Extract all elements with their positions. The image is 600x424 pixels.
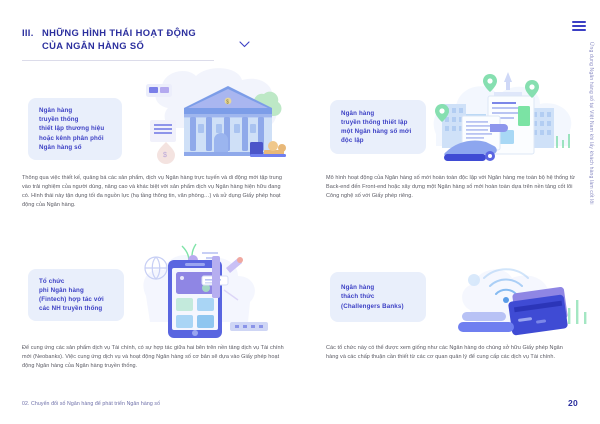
footer-chapter-label: 02. Chuyển đổi số Ngân hàng để phát triể… <box>22 401 160 407</box>
label-card-2-line: Ngân hàng <box>341 109 415 118</box>
credit-card-wifi-illustration <box>440 250 590 342</box>
page-canvas: III. NHỮNG HÌNH THÁI HOẠT ĐỘNG CỦA NGÂN … <box>0 0 600 424</box>
label-card-1-line: thiết lập thương hiệu <box>39 124 111 133</box>
label-card-4-line: Ngân hàng <box>341 283 415 292</box>
section-1-paragraph: Thông qua việc thiết kế, quảng bá các sả… <box>22 174 288 210</box>
label-card-4: Ngân hàng thách thức (Challengers Banks) <box>330 272 426 322</box>
page-title-line-1: NHỮNG HÌNH THÁI HOẠT ĐỘNG <box>42 26 242 39</box>
section-2-paragraph: Mô hình hoạt động của Ngân hàng số mới h… <box>326 174 576 201</box>
bank-building-illustration: $ $ <box>138 58 300 170</box>
page-title-line-2: CỦA NGÂN HÀNG SỐ <box>42 39 242 52</box>
label-card-4-line: (Challengers Banks) <box>341 302 415 311</box>
label-card-3-line: (Fintech) hợp tác với <box>39 295 113 304</box>
svg-text:$: $ <box>163 152 167 159</box>
label-card-1-line: truyền thống <box>39 115 111 124</box>
label-card-3-line: phi Ngân hàng <box>39 286 113 295</box>
label-card-3-line: Tổ chức <box>39 277 113 286</box>
chevron-down-icon[interactable] <box>239 41 250 48</box>
section-3-paragraph: Để cung ứng các sản phẩm dịch vụ Tài chí… <box>22 344 288 371</box>
city-documents-illustration <box>428 56 588 168</box>
svg-text:$: $ <box>226 100 229 106</box>
label-card-3-line: các NH truyền thống <box>39 304 113 313</box>
mobile-payment-illustration <box>138 238 302 342</box>
section-numeral: III. <box>22 26 42 39</box>
label-card-1-line: Ngân hàng số <box>39 143 111 152</box>
label-card-1-line: Ngân hàng <box>39 106 111 115</box>
label-card-2-line: truyền thống thiết lập <box>341 118 415 127</box>
hamburger-menu-icon[interactable] <box>572 21 586 31</box>
section-4-paragraph: Các tổ chức này có thể được xem giống nh… <box>326 344 576 362</box>
label-card-2-line: độc lập <box>341 136 415 145</box>
label-card-4-line: thách thức <box>341 292 415 301</box>
label-card-2-line: một Ngân hàng số mới <box>341 127 415 136</box>
label-card-1-line: hoặc kênh phân phối <box>39 134 111 143</box>
label-card-1: Ngân hàng truyền thống thiết lập thương … <box>28 98 122 160</box>
page-number: 20 <box>568 398 578 408</box>
label-card-3: Tổ chức phi Ngân hàng (Fintech) hợp tác … <box>28 269 124 321</box>
label-card-2: Ngân hàng truyền thống thiết lập một Ngâ… <box>330 100 426 154</box>
page-heading: III. NHỮNG HÌNH THÁI HOẠT ĐỘNG CỦA NGÂN … <box>22 26 242 52</box>
